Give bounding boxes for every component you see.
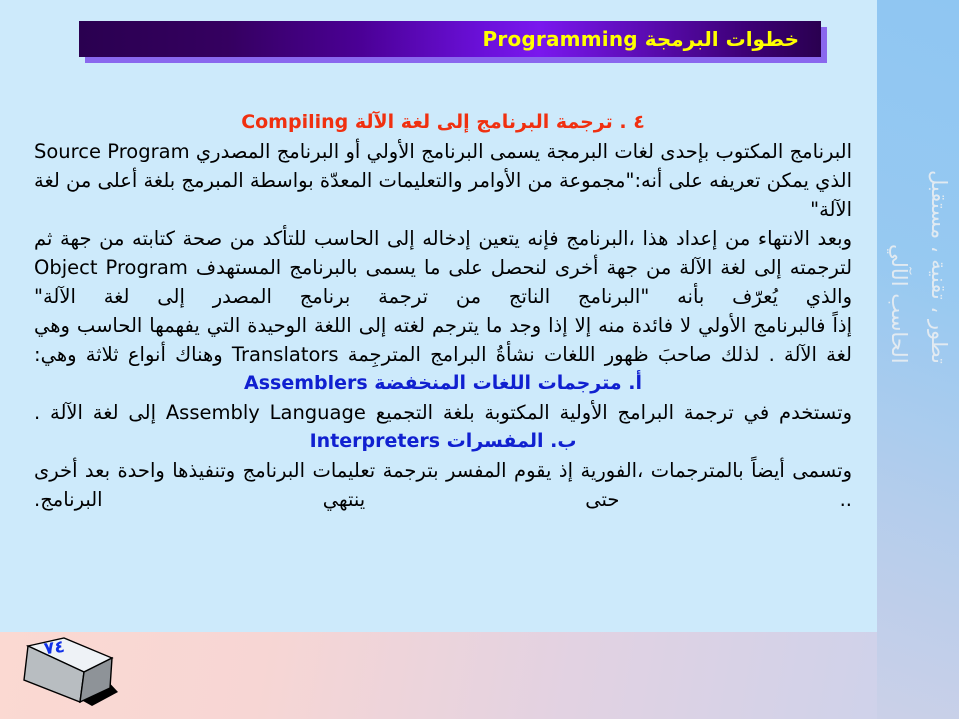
page-number: ٧٤ [43, 637, 66, 659]
slide-title: خطوات البرمجة Programming [483, 27, 799, 51]
page-number-keycap [22, 632, 142, 714]
slide-canvas: تطور ، تقنية ، مستقبل الحاسب الآلي خطوات… [0, 0, 959, 719]
para-source-program: البرنامج المكتوب بإحدى لغات البرمجة يسمى… [34, 137, 852, 224]
para-translators: إذاً فالبرنامج الأولي لا فائدة منه إلا إ… [34, 311, 852, 369]
title-bar: خطوات البرمجة Programming [79, 21, 821, 57]
side-strip: تطور ، تقنية ، مستقبل الحاسب الآلي [877, 0, 959, 719]
para-assemblers: وتستخدم في ترجمة البرامج الأولية المكتوب… [34, 398, 852, 427]
heading-interpreters: ب. المفسرات Interpreters [34, 427, 852, 456]
side-strip-line-2: الحاسب الآلي [879, 34, 919, 364]
para-interpreters: وتسمى أيضاً بالمترجمات ،الفورية إذ يقوم … [34, 456, 852, 514]
heading-assemblers: أ. مترجمات اللغات المنخفضة Assemblers [34, 369, 852, 398]
side-strip-line-1: تطور ، تقنية ، مستقبل [919, 34, 959, 364]
para-object-program: وبعد الانتهاء من إعداد هذا ،البرنامج فإن… [34, 224, 852, 311]
title-bar-wrapper: خطوات البرمجة Programming [79, 21, 827, 63]
slide-body-text: ٤ . ترجمة البرنامج إلى لغة الآلة Compili… [34, 108, 852, 514]
side-strip-text: تطور ، تقنية ، مستقبل الحاسب الآلي [877, 34, 959, 364]
heading-compiling: ٤ . ترجمة البرنامج إلى لغة الآلة Compili… [34, 108, 852, 137]
